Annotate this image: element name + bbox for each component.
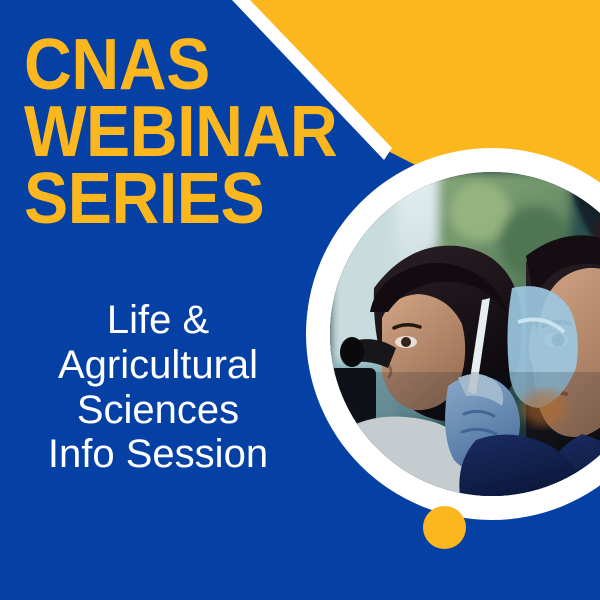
subtitle-line-1: Life & <box>8 298 308 343</box>
page-subtitle: Life & Agricultural Sciences Info Sessio… <box>8 298 308 477</box>
accent-dot-decoration <box>423 506 466 549</box>
photo-image-clip <box>330 172 600 496</box>
subtitle-line-4: Info Session <box>8 432 308 477</box>
subtitle-line-3: Sciences <box>8 388 308 433</box>
headline-line-1: CNAS <box>24 32 328 99</box>
page-title: CNAS WEBINAR SERIES <box>24 32 354 233</box>
poster-canvas: CNAS WEBINAR SERIES Life & Agricultural … <box>0 0 600 600</box>
headline-line-2: WEBINAR <box>24 99 328 166</box>
subtitle-line-2: Agricultural <box>8 343 308 388</box>
lab-scene-illustration <box>330 172 600 496</box>
headline-line-3: SERIES <box>24 166 328 233</box>
